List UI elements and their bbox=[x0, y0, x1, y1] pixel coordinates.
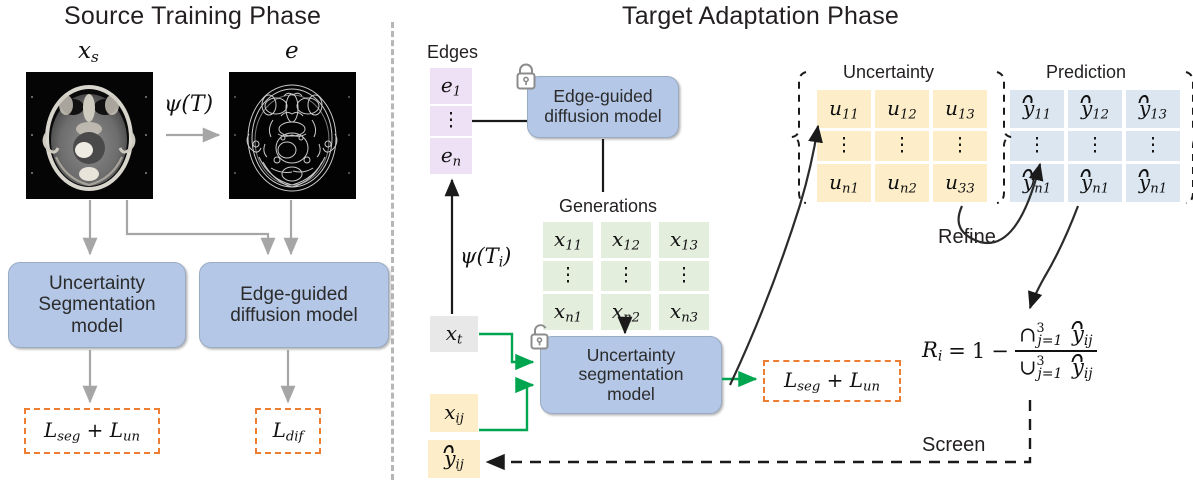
left-loss-dif: Ldif bbox=[255, 408, 321, 454]
left-loss-seg-un-label: Lseg + Lun bbox=[44, 418, 140, 444]
right-loss-seg-un: Lseg + Lun bbox=[763, 360, 901, 402]
right-edge-guided-diffusion-model-label: Edge-guided diffusion model bbox=[544, 87, 661, 126]
prediction-label: Prediction bbox=[1046, 62, 1126, 83]
prediction-cell-y13: y13 bbox=[1126, 90, 1180, 128]
formula-equals: = bbox=[948, 339, 966, 363]
refinement-formula: Ri = 1 − ∩3j=1 yij ∪3j=1 yij bbox=[922, 320, 1097, 382]
formula-numerator: ∩3j=1 yij bbox=[1015, 320, 1097, 350]
prediction-cell-dots-2: ⋮ bbox=[1068, 131, 1122, 161]
generation-cell-x13: x13 bbox=[659, 222, 709, 258]
formula-lhs: Ri bbox=[922, 338, 942, 365]
edges-label: Edges bbox=[427, 42, 478, 63]
left-loss-dif-label: Ldif bbox=[273, 418, 304, 444]
formula-one: 1 bbox=[972, 339, 985, 363]
uncertainty-cell-u12: u12 bbox=[875, 90, 929, 128]
generation-cell-xn3: xn3 bbox=[659, 294, 709, 330]
right-uncertainty-segmentation-model[interactable]: Uncertainty segmentation model bbox=[540, 336, 722, 414]
generation-cell-xn2: xn2 bbox=[601, 294, 651, 330]
formula-minus: − bbox=[991, 339, 1009, 363]
prediction-cell-dots-1: ⋮ bbox=[1010, 131, 1064, 161]
lock-closed-icon bbox=[511, 60, 541, 97]
left-loss-seg-un: Lseg + Lun bbox=[24, 408, 160, 454]
page-title-right: Target Adaptation Phase bbox=[622, 2, 899, 31]
generation-cell-dots-1: ⋮ bbox=[543, 261, 593, 291]
edge-map-image bbox=[229, 72, 356, 199]
edge-cell-e1: e1 bbox=[430, 68, 472, 104]
left-uncertainty-segmentation-model[interactable]: Uncertainty Segmentation model bbox=[8, 262, 186, 348]
prediction-cell-yn1-c: yn1 bbox=[1126, 164, 1180, 202]
uncertainty-cell-un1: un1 bbox=[817, 164, 871, 202]
prediction-cell-dots-3: ⋮ bbox=[1126, 131, 1180, 161]
page-title-left: Source Training Phase bbox=[64, 2, 321, 31]
input-yij-tile: yij bbox=[428, 440, 480, 478]
right-uncertainty-segmentation-model-label: Uncertainty segmentation model bbox=[578, 346, 683, 405]
prediction-cell-yn1-a: yn1 bbox=[1010, 164, 1064, 202]
uncertainty-label: Uncertainty bbox=[843, 62, 934, 83]
generation-cell-dots-3: ⋮ bbox=[659, 261, 709, 291]
panel-divider bbox=[391, 22, 394, 480]
left-edge-guided-diffusion-model-label: Edge-guided diffusion model bbox=[230, 284, 357, 327]
right-loss-seg-un-label: Lseg + Lun bbox=[784, 368, 880, 394]
generations-label: Generations bbox=[559, 196, 657, 217]
formula-fraction: ∩3j=1 yij ∪3j=1 yij bbox=[1015, 320, 1097, 382]
uncertainty-cell-u33: u33 bbox=[933, 164, 987, 202]
generation-cell-x11: x11 bbox=[543, 222, 593, 258]
edge-cell-dots: ⋮ bbox=[430, 106, 472, 136]
connector-layer bbox=[0, 0, 1193, 488]
uncertainty-cell-u11: u11 bbox=[817, 90, 871, 128]
uncertainty-cell-dots-3: ⋮ bbox=[933, 131, 987, 161]
edge-image-label: e bbox=[285, 38, 299, 64]
source-image-label: xs bbox=[78, 38, 99, 66]
generation-cell-x12: x12 bbox=[601, 222, 651, 258]
uncertainty-cell-u13: u13 bbox=[933, 90, 987, 128]
source-mri-image bbox=[26, 72, 153, 199]
left-edge-guided-diffusion-model[interactable]: Edge-guided diffusion model bbox=[199, 262, 389, 348]
prediction-cell-yn1-b: yn1 bbox=[1068, 164, 1122, 202]
edge-cell-en: en bbox=[430, 138, 472, 174]
lock-open-icon bbox=[526, 320, 556, 357]
input-xt-tile: xt bbox=[430, 316, 478, 352]
screen-label: Screen bbox=[922, 434, 985, 457]
uncertainty-cell-un2: un2 bbox=[875, 164, 929, 202]
formula-denominator: ∪3j=1 yij bbox=[1015, 350, 1097, 382]
prediction-cell-y11: y11 bbox=[1010, 90, 1064, 128]
uncertainty-cell-dots-2: ⋮ bbox=[875, 131, 929, 161]
input-xij-tile: xij bbox=[430, 394, 478, 432]
left-uncertainty-segmentation-model-label: Uncertainty Segmentation model bbox=[38, 273, 155, 337]
source-transform-label: ψ(T) bbox=[164, 92, 213, 117]
refine-label: Refine bbox=[938, 226, 996, 249]
target-transform-label: ψ(Ti) bbox=[460, 244, 511, 271]
generation-cell-dots-2: ⋮ bbox=[601, 261, 651, 291]
prediction-cell-y12: y12 bbox=[1068, 90, 1122, 128]
uncertainty-cell-dots-1: ⋮ bbox=[817, 131, 871, 161]
right-edge-guided-diffusion-model[interactable]: Edge-guided diffusion model bbox=[527, 76, 679, 138]
